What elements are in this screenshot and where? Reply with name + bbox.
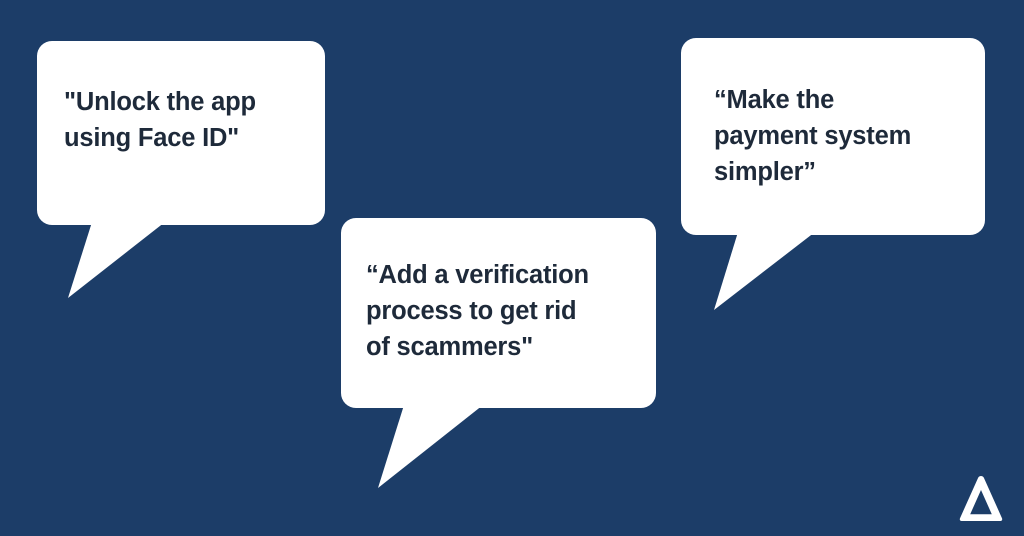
speech-bubble-2: “Add a verification process to get rid o… <box>341 218 656 408</box>
speech-bubble-1: "Unlock the app using Face ID" <box>37 41 325 225</box>
speech-bubble-tail-2 <box>376 405 486 490</box>
speech-bubble-3: “Make the payment system simpler” <box>681 38 985 235</box>
speech-bubble-tail-1 <box>68 222 168 300</box>
delta-triangle-logo-icon <box>959 475 1003 521</box>
speech-bubble-3-quote: “Make the payment system simpler” <box>714 82 976 190</box>
graphic-canvas: "Unlock the app using Face ID" “Add a ve… <box>0 0 1024 536</box>
speech-bubble-2-quote: “Add a verification process to get rid o… <box>366 257 636 365</box>
speech-bubble-tail-3 <box>712 232 818 312</box>
speech-bubble-1-quote: "Unlock the app using Face ID" <box>64 84 304 156</box>
